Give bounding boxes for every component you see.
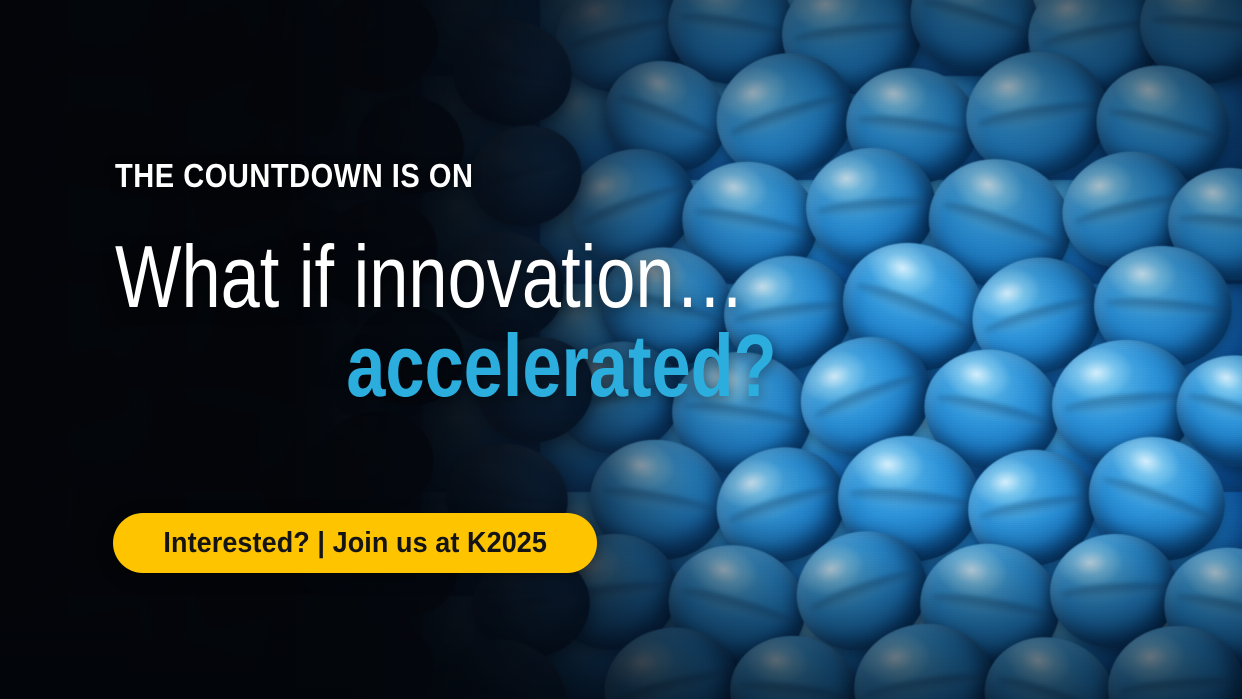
eyebrow-text: THE COUNTDOWN IS ON	[115, 157, 474, 195]
headline-line-2-accent: accelerated?	[115, 325, 777, 408]
promotional-banner: THE COUNTDOWN IS ON What if innovation… …	[0, 0, 1242, 699]
join-us-cta-label: Interested? | Join us at K2025	[163, 527, 547, 560]
headline-block: What if innovation… accelerated?	[115, 236, 942, 407]
join-us-cta-button[interactable]: Interested? | Join us at K2025	[113, 513, 597, 573]
banner-content: THE COUNTDOWN IS ON What if innovation… …	[0, 0, 1242, 699]
headline-line-1: What if innovation…	[115, 236, 777, 319]
